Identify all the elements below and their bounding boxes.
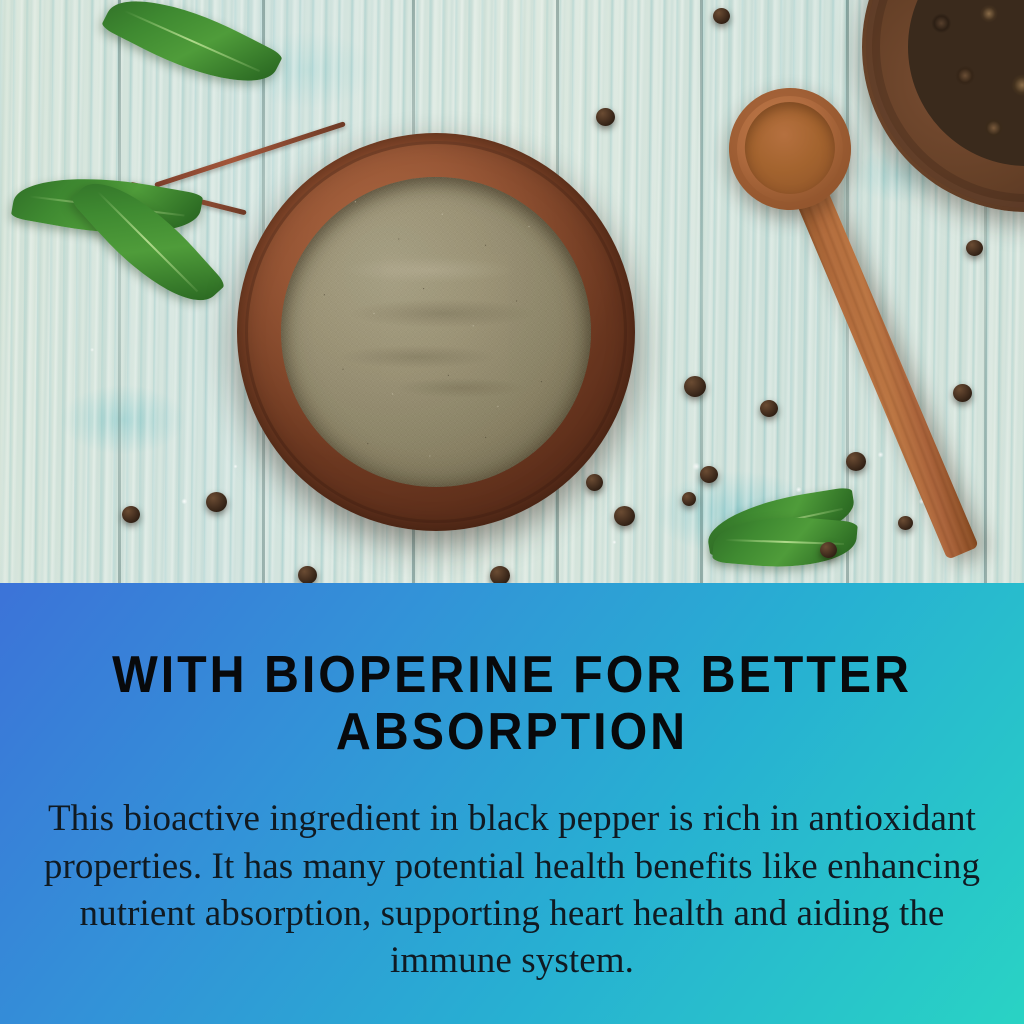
peppercorn — [898, 516, 913, 530]
text-panel: WITH BIOPERINE FOR BETTER ABSORPTION Thi… — [0, 583, 1024, 1024]
peppercorn — [586, 474, 603, 491]
body-description: This bioactive ingredient in black peppe… — [32, 795, 992, 984]
peppercorn — [122, 506, 140, 523]
peppercorn — [966, 240, 983, 256]
powder-granules — [281, 177, 591, 487]
peppercorn — [713, 8, 730, 24]
peppercorn — [682, 492, 696, 506]
peppercorn — [760, 400, 778, 417]
product-photo — [0, 0, 1024, 583]
page-title: WITH BIOPERINE FOR BETTER ABSORPTION — [84, 647, 940, 761]
whole-peppercorns — [908, 0, 1024, 166]
peppercorn — [684, 376, 706, 397]
peppercorn — [846, 452, 866, 471]
peppercorn — [614, 506, 635, 526]
peppercorn — [953, 384, 972, 402]
peppercorn — [820, 542, 837, 558]
peppercorn — [298, 566, 317, 583]
peppercorn — [206, 492, 227, 512]
clay-bowl-ground-pepper — [237, 133, 635, 531]
peppercorn — [490, 566, 510, 583]
peppercorn — [596, 108, 615, 126]
infographic-canvas: WITH BIOPERINE FOR BETTER ABSORPTION Thi… — [0, 0, 1024, 1024]
peppercorn — [700, 466, 718, 483]
ground-pepper-powder — [281, 177, 591, 487]
